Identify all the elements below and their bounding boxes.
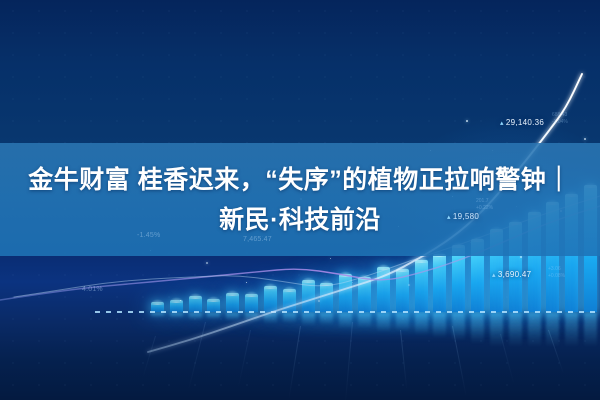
headline-line-1: 金牛财富 桂香迟来，“失序”的植物正拉响警钟｜ — [28, 160, 571, 200]
headline-line-2: 新民·科技前沿 — [219, 200, 381, 240]
value-label: ▴3,690.47 — [492, 270, 531, 279]
label-marker: ▴ — [500, 120, 504, 127]
sparkle-dot — [408, 284, 410, 286]
sparkle-dot — [206, 262, 208, 264]
sparkle-dot — [520, 256, 522, 258]
sparkle-dot — [466, 120, 468, 122]
value-label-text: 29,140.36 — [506, 118, 544, 127]
value-label: ▴29,140.36 — [500, 118, 544, 127]
micro-tag-line-2: +0.08% — [548, 273, 565, 280]
sparkle-dot — [246, 282, 247, 283]
micro-tag-line-2: -1.04% — [552, 119, 568, 126]
micro-tag: 688.43-1.04% — [552, 112, 568, 126]
cover-image: ▴29,140.36▴19,580▴3,690.47-1.45%7,465.47… — [0, 0, 600, 400]
label-marker: ▴ — [492, 272, 496, 279]
micro-tag: +3.06+0.08% — [548, 266, 565, 280]
micro-tag-line-1: 688.43 — [552, 112, 568, 119]
sparkle-dot — [584, 138, 586, 140]
sparkle-dot — [318, 300, 320, 302]
micro-tag-line-1: +3.06 — [548, 266, 565, 273]
headline-block: 金牛财富 桂香迟来，“失序”的植物正拉响警钟｜ 新民·科技前沿 — [0, 143, 600, 256]
value-label-text: 3,690.47 — [498, 270, 532, 279]
faint-percent-label: 4.01% — [82, 286, 103, 293]
